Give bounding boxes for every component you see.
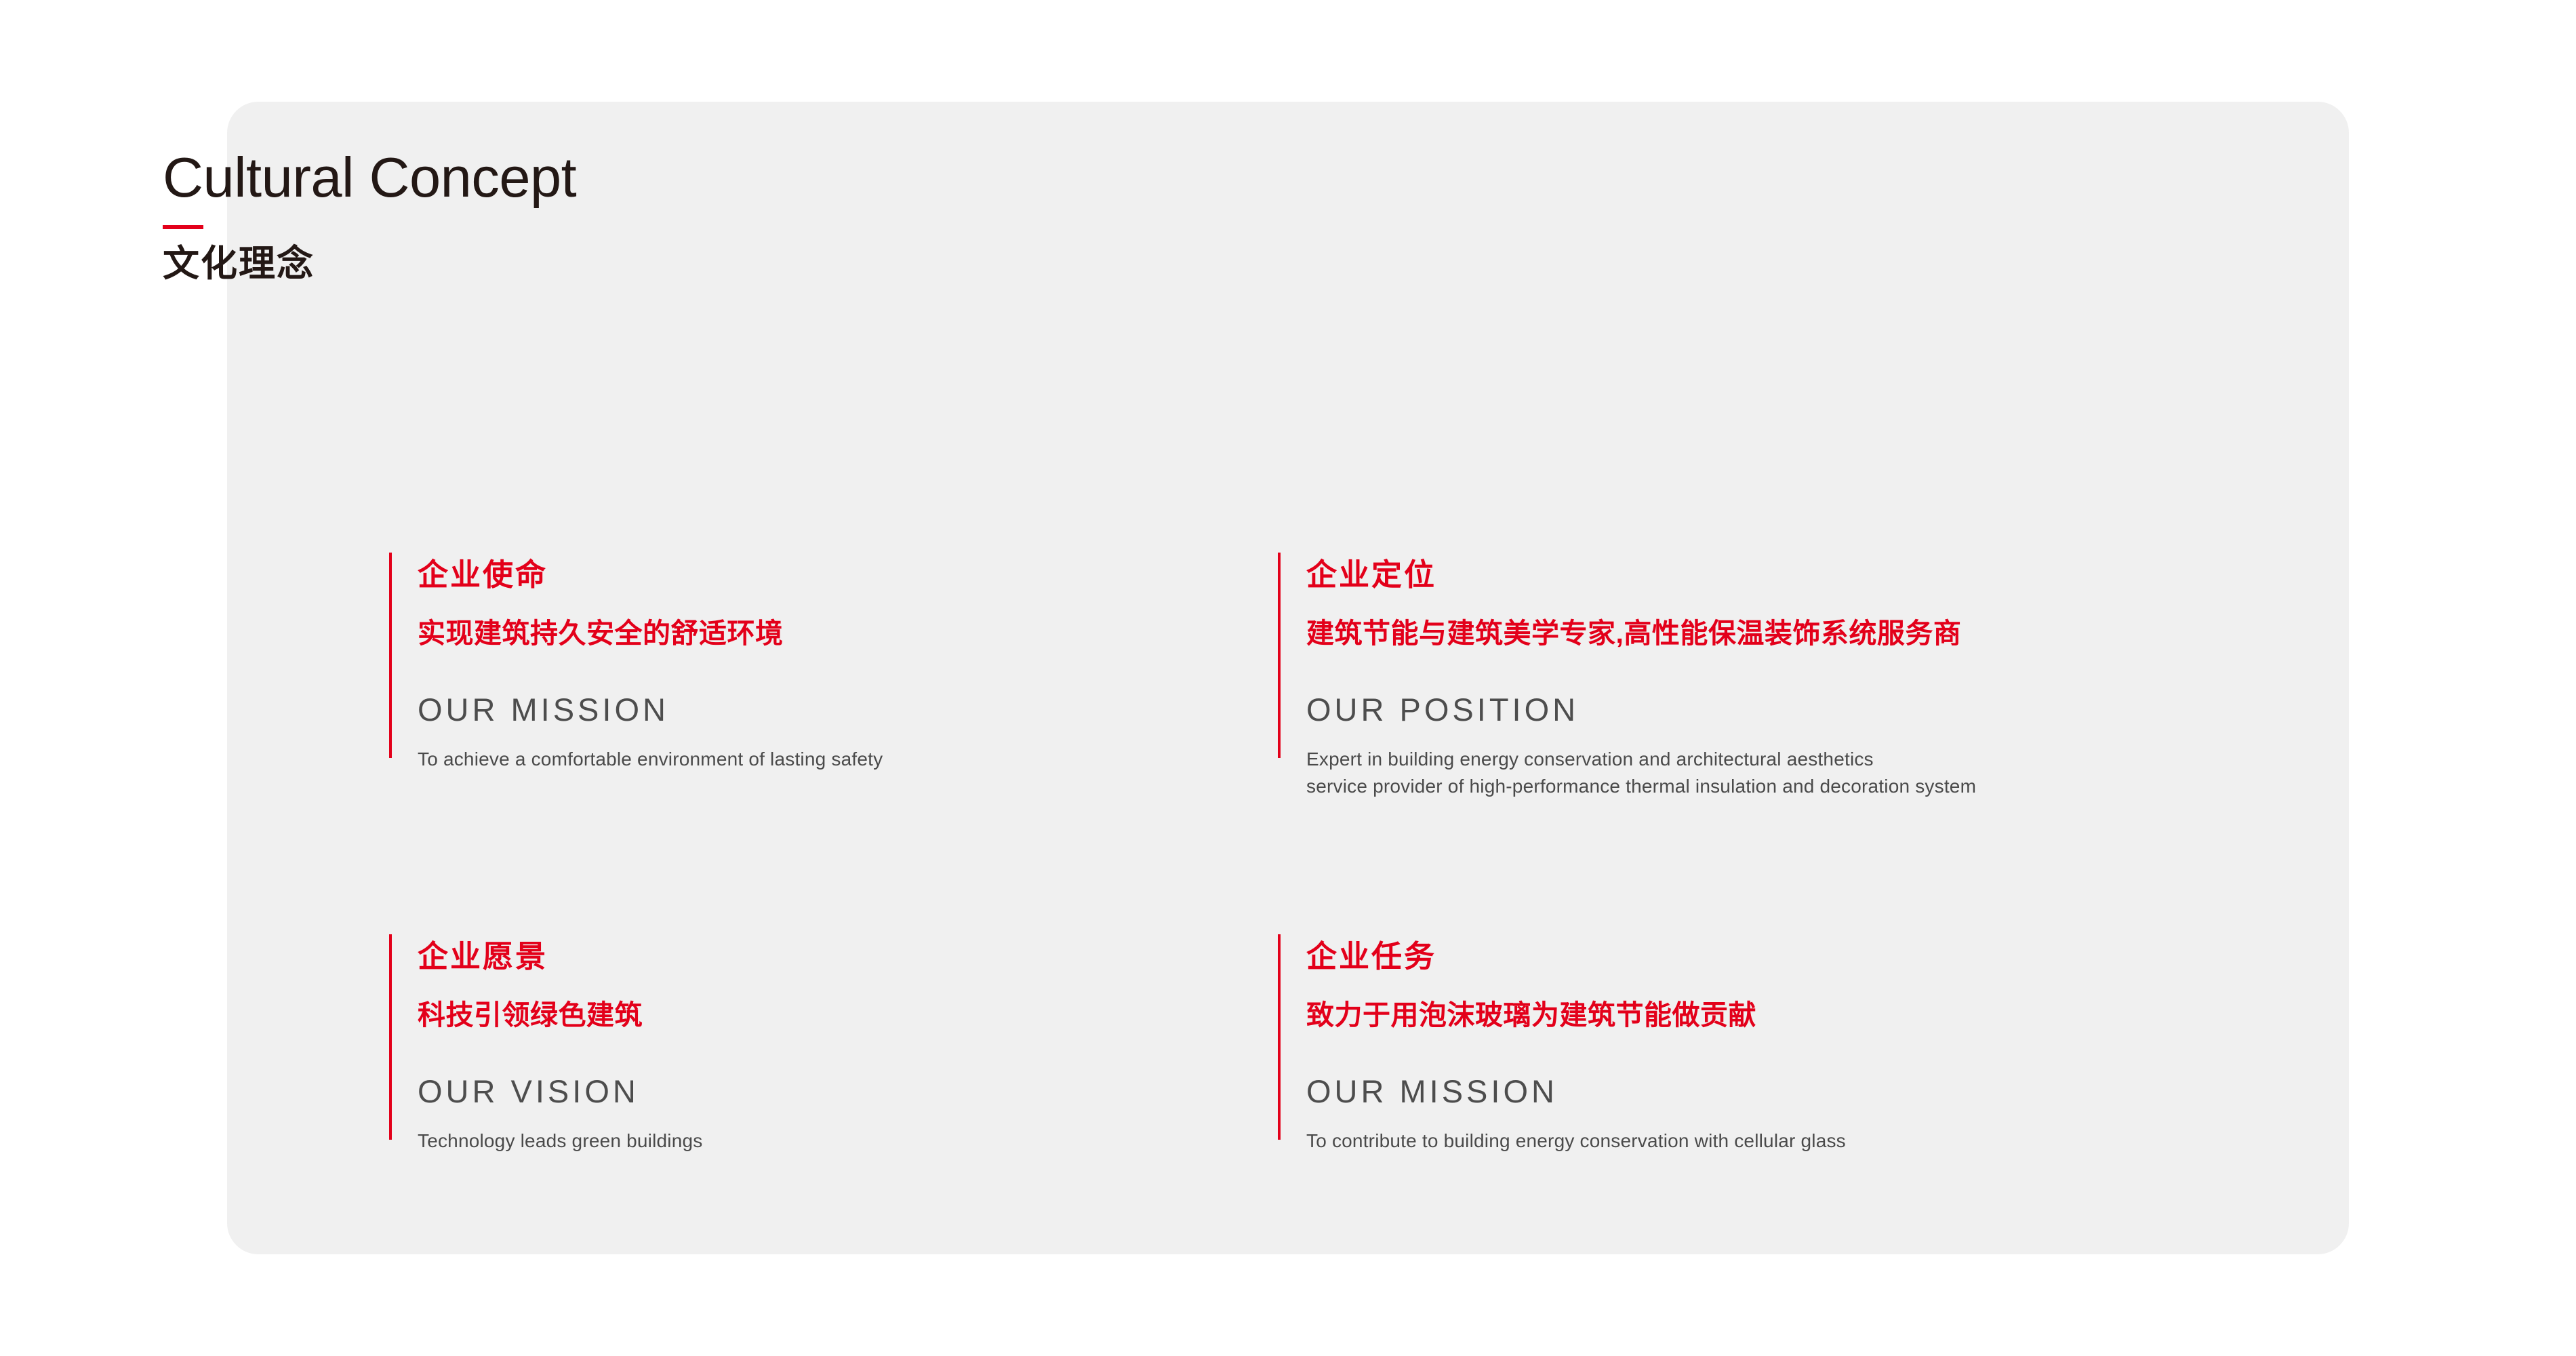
page-root: Cultural Concept 文化理念 企业使命 实现建筑持久安全的舒适环境… <box>0 0 2576 1356</box>
concept-block-body: 企业愿景 科技引领绿色建筑 OUR VISION Technology lead… <box>418 934 1434 1155</box>
concept-subtitle-chinese: 建筑节能与建筑美学专家,高性能保温装饰系统服务商 <box>1306 620 2323 647</box>
accent-rule <box>1278 553 1281 758</box>
concept-description-english: Expert in building energy conservation a… <box>1306 746 2323 800</box>
concept-heading-english: OUR VISION <box>418 1075 1434 1107</box>
concept-block-body: 企业使命 实现建筑持久安全的舒适环境 OUR MISSION To achiev… <box>418 553 1434 773</box>
accent-rule <box>389 934 392 1140</box>
accent-rule <box>389 553 392 758</box>
concept-subtitle-chinese: 实现建筑持久安全的舒适环境 <box>418 620 1434 647</box>
concept-heading-english: OUR MISSION <box>418 694 1434 725</box>
concept-description-english: Technology leads green buildings <box>418 1128 1434 1155</box>
concept-heading-chinese: 企业使命 <box>418 559 1434 590</box>
concept-grid: 企业使命 实现建筑持久安全的舒适环境 OUR MISSION To achiev… <box>0 0 2576 1356</box>
concept-block-body: 企业任务 致力于用泡沫玻璃为建筑节能做贡献 OUR MISSION To con… <box>1306 934 2323 1155</box>
concept-heading-english: OUR MISSION <box>1306 1075 2323 1107</box>
concept-description-english: To achieve a comfortable environment of … <box>418 746 1434 773</box>
concept-description-english: To contribute to building energy conserv… <box>1306 1128 2323 1155</box>
concept-block-body: 企业定位 建筑节能与建筑美学专家,高性能保温装饰系统服务商 OUR POSITI… <box>1306 553 2323 800</box>
concept-subtitle-chinese: 致力于用泡沫玻璃为建筑节能做贡献 <box>1306 1001 2323 1029</box>
concept-heading-chinese: 企业愿景 <box>418 941 1434 972</box>
concept-heading-chinese: 企业任务 <box>1306 941 2323 972</box>
concept-heading-chinese: 企业定位 <box>1306 559 2323 590</box>
accent-rule <box>1278 934 1281 1140</box>
concept-heading-english: OUR POSITION <box>1306 694 2323 725</box>
concept-subtitle-chinese: 科技引领绿色建筑 <box>418 1001 1434 1029</box>
